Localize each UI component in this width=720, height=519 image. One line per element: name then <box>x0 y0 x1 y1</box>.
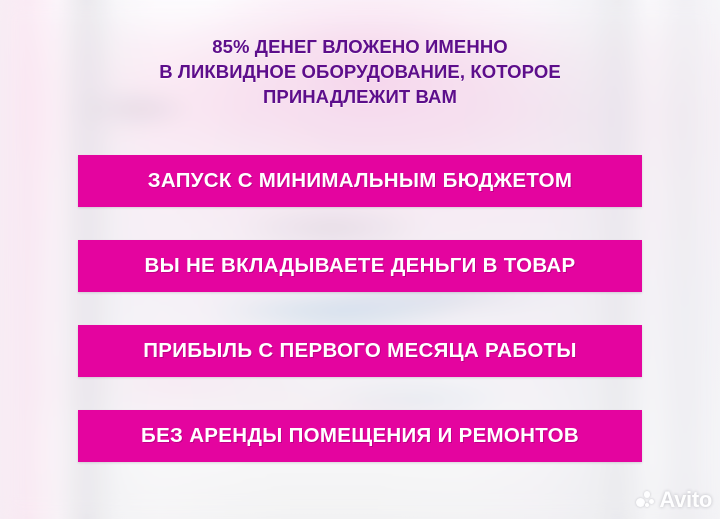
feature-bar-4-label: БЕЗ АРЕНДЫ ПОМЕЩЕНИЯ И РЕМОНТОВ <box>78 426 642 447</box>
feature-bar-2-label: ВЫ НЕ ВКЛАДЫВАЕТЕ ДЕНЬГИ В ТОВАР <box>78 256 642 277</box>
avito-watermark: Avito <box>636 489 712 511</box>
feature-bar-1: ЗАПУСК С МИНИМАЛЬНЫМ БЮДЖЕТОМ <box>78 155 642 207</box>
headline-line-1: 85% ДЕНЕГ ВЛОЖЕНО ИМЕННО <box>0 34 720 59</box>
avito-watermark-label: Avito <box>659 489 712 511</box>
feature-bar-1-label: ЗАПУСК С МИНИМАЛЬНЫМ БЮДЖЕТОМ <box>78 171 642 192</box>
headline-line-2: В ЛИКВИДНОЕ ОБОРУДОВАНИЕ, КОТОРОЕ <box>0 59 720 84</box>
avito-logo-icon <box>636 491 655 510</box>
promo-banner: 85% ДЕНЕГ ВЛОЖЕНО ИМЕННО В ЛИКВИДНОЕ ОБО… <box>0 0 720 519</box>
feature-bar-3-label: ПРИБЫЛЬ С ПЕРВОГО МЕСЯЦА РАБОТЫ <box>78 341 642 362</box>
feature-bar-2: ВЫ НЕ ВКЛАДЫВАЕТЕ ДЕНЬГИ В ТОВАР <box>78 240 642 292</box>
feature-bar-list: ЗАПУСК С МИНИМАЛЬНЫМ БЮДЖЕТОМ ВЫ НЕ ВКЛА… <box>78 155 642 462</box>
feature-bar-3: ПРИБЫЛЬ С ПЕРВОГО МЕСЯЦА РАБОТЫ <box>78 325 642 377</box>
feature-bar-4: БЕЗ АРЕНДЫ ПОМЕЩЕНИЯ И РЕМОНТОВ <box>78 410 642 462</box>
headline: 85% ДЕНЕГ ВЛОЖЕНО ИМЕННО В ЛИКВИДНОЕ ОБО… <box>0 34 720 109</box>
headline-line-3: ПРИНАДЛЕЖИТ ВАМ <box>0 84 720 109</box>
